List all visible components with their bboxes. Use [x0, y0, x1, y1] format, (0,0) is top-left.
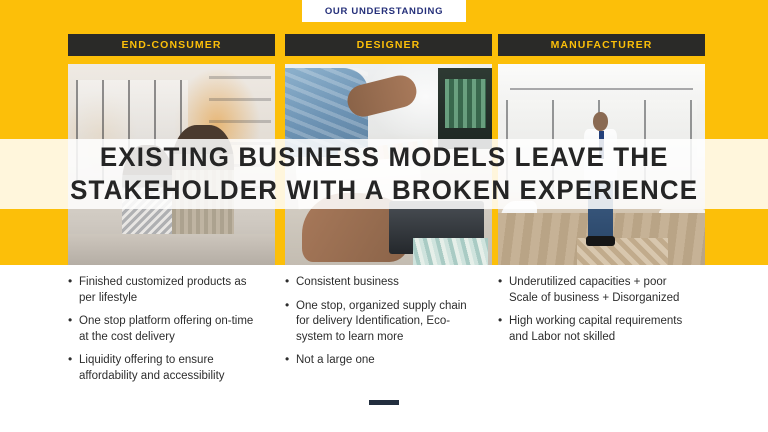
section-badge: OUR UNDERSTANDING: [302, 0, 466, 22]
list-item: Consistent business: [285, 275, 481, 291]
list-item: One stop, organized supply chain for del…: [285, 299, 481, 346]
bullet-list-manufacturer: Underutilized capacities + poor Scale of…: [498, 275, 694, 353]
bullet-list-end-consumer: Finished customized products as per life…: [68, 275, 264, 392]
bullet-list-designer: Consistent business One stop, organized …: [285, 275, 481, 377]
list-item: Not a large one: [285, 353, 481, 369]
list-item: One stop platform offering on-time at th…: [68, 314, 264, 345]
person-head-shape: [593, 112, 607, 130]
column-header-label: DESIGNER: [357, 39, 421, 51]
column-header-label: MANUFACTURER: [551, 39, 653, 51]
counter-shape: [68, 234, 275, 266]
column-header-designer: DESIGNER: [285, 34, 492, 56]
bullets-panel: Finished customized products as per life…: [0, 265, 768, 432]
list-item: Underutilized capacities + poor Scale of…: [498, 275, 694, 306]
column-header-manufacturer: MANUFACTURER: [498, 34, 705, 56]
color-swatch-strip-shape: [413, 238, 488, 266]
list-item: Liquidity offering to ensure affordabili…: [68, 353, 264, 384]
person-shoes-shape: [586, 236, 615, 246]
section-badge-label: OUR UNDERSTANDING: [325, 6, 443, 17]
column-header-end-consumer: END-CONSUMER: [68, 34, 275, 56]
list-item: High working capital requirements and La…: [498, 314, 694, 345]
slide-canvas: OUR UNDERSTANDING END-CONSUMER DESIGNER: [0, 0, 768, 432]
monitor-shape: [438, 68, 492, 149]
headline-line-1: EXISTING BUSINESS MODELS LEAVE THE: [100, 141, 669, 174]
headline-line-2: STAKEHOLDER WITH A BROKEN EXPERIENCE: [70, 174, 698, 207]
column-header-label: END-CONSUMER: [121, 39, 221, 51]
headline-band: EXISTING BUSINESS MODELS LEAVE THE STAKE…: [0, 139, 768, 209]
list-item: Finished customized products as per life…: [68, 275, 264, 306]
slide-divider-dash: [369, 400, 399, 405]
